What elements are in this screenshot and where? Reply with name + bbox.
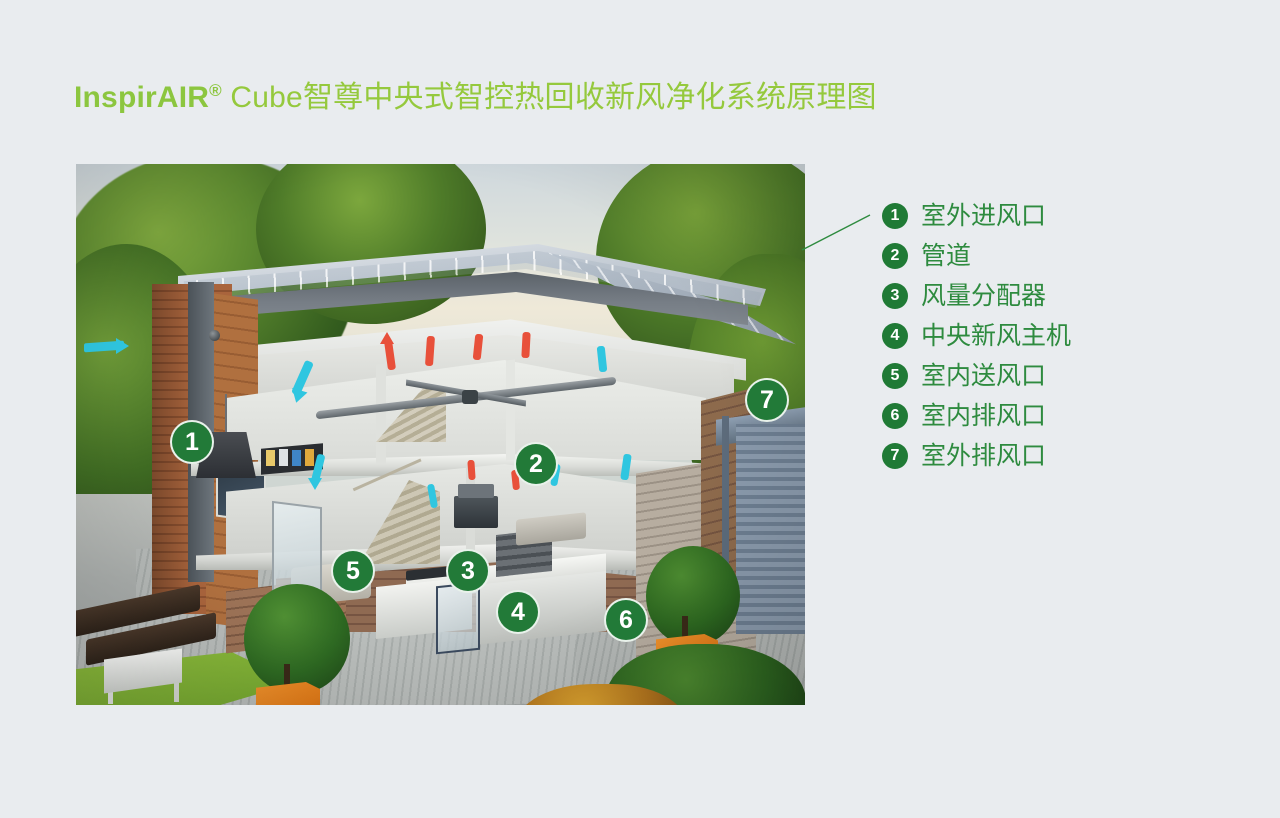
legend-item-3-badge: 3 [882, 283, 908, 309]
legend-item-3-label: 风量分配器 [921, 281, 1046, 311]
legend-item-5-badge: 5 [882, 363, 908, 389]
brand-name: InspirAIR [74, 81, 209, 114]
marker-pin-1-number: 1 [170, 420, 214, 464]
page-title-rest: Cube智尊中央式智控热回收新风净化系统原理图 [222, 81, 877, 114]
legend: 1室外进风口2管道3风量分配器4中央新风主机5室内送风口6室内排风口7室外排风口 [882, 196, 1071, 476]
page-title: InspirAIR® Cube智尊中央式智控热回收新风净化系统原理图 [74, 74, 877, 115]
legend-item-4-badge: 4 [882, 323, 908, 349]
marker-pin-5-number: 5 [331, 549, 375, 593]
legend-item-2-badge: 2 [882, 243, 908, 269]
marker-pin-2[interactable]: 2 [514, 442, 558, 486]
system-diagram-image: 1234567 [76, 164, 805, 705]
legend-item-1-badge: 1 [882, 203, 908, 229]
marker-pin-4[interactable]: 4 [496, 590, 540, 634]
legend-item-7-label: 室外排风口 [921, 441, 1046, 471]
legend-item-3[interactable]: 3风量分配器 [882, 276, 1071, 316]
marker-pin-7-number: 7 [745, 378, 789, 422]
legend-item-4[interactable]: 4中央新风主机 [882, 316, 1071, 356]
legend-item-4-label: 中央新风主机 [921, 321, 1071, 351]
legend-item-6-badge: 6 [882, 403, 908, 429]
legend-item-2[interactable]: 2管道 [882, 236, 1071, 276]
marker-pin-4-number: 4 [496, 590, 540, 634]
marker-pin-3[interactable]: 3 [446, 549, 490, 593]
legend-item-6[interactable]: 6室内排风口 [882, 396, 1071, 436]
registered-trademark-icon: ® [209, 81, 222, 100]
legend-item-1[interactable]: 1室外进风口 [882, 196, 1071, 236]
legend-item-5-label: 室内送风口 [921, 361, 1046, 391]
leader-line [800, 210, 872, 254]
legend-item-1-label: 室外进风口 [921, 201, 1046, 231]
marker-pin-6-number: 6 [604, 598, 648, 642]
marker-pin-7[interactable]: 7 [745, 378, 789, 422]
marker-pin-6[interactable]: 6 [604, 598, 648, 642]
legend-item-2-label: 管道 [921, 241, 971, 271]
marker-pin-3-number: 3 [446, 549, 490, 593]
marker-pin-5[interactable]: 5 [331, 549, 375, 593]
legend-item-7[interactable]: 7室外排风口 [882, 436, 1071, 476]
legend-item-5[interactable]: 5室内送风口 [882, 356, 1071, 396]
legend-item-7-badge: 7 [882, 443, 908, 469]
marker-pin-1[interactable]: 1 [170, 420, 214, 464]
marker-pin-2-number: 2 [514, 442, 558, 486]
legend-item-6-label: 室内排风口 [921, 401, 1046, 431]
